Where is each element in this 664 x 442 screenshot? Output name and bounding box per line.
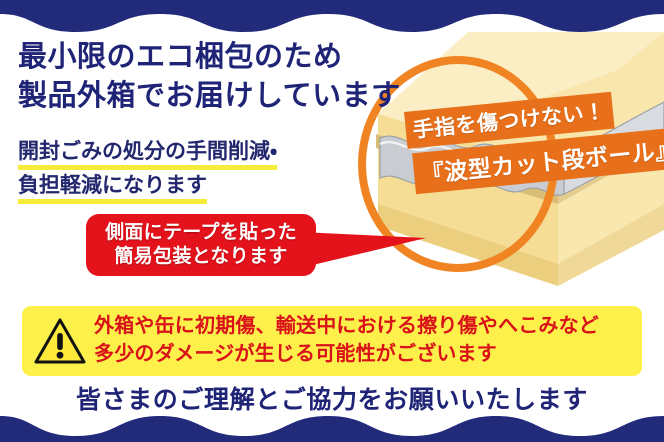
subhead-line-2: 負担軽減になります (18, 170, 207, 204)
warning-line-1: 外箱や缶に初期傷、輸送中における擦り傷やへこみなど (94, 313, 630, 341)
callout-pointer-arrow (300, 222, 426, 278)
red-callout-bubble: 側面にテープを貼った 簡易包装となります (86, 214, 316, 276)
warning-triangle-icon (34, 317, 86, 365)
closing-message: 皆さまのご理解とご協力をお願いいたします (0, 380, 664, 416)
red-callout-line-2: 簡易包装となります (114, 245, 287, 269)
warning-text-block: 外箱や缶に初期傷、輸送中における擦り傷やへこみなど 多少のダメージが生じる可能性… (94, 313, 630, 368)
red-callout-line-1: 側面にテープを貼った (105, 221, 297, 245)
main-headline: 最小限のエコ梱包のため 製品外箱でお届けしています (18, 38, 401, 115)
packaging-notice-banner: 最小限のエコ梱包のため 製品外箱でお届けしています 開封ごみの処分の手間削減・ … (0, 0, 664, 442)
headline-line-2: 製品外箱でお届けしています (18, 77, 401, 116)
sub-headline: 開封ごみの処分の手間削減・ 負担軽減になります (18, 136, 277, 204)
warning-panel: 外箱や缶に初期傷、輸送中における擦り傷やへこみなど 多少のダメージが生じる可能性… (22, 306, 642, 376)
warning-line-2: 多少のダメージが生じる可能性がございます (94, 341, 630, 369)
subhead-line-1: 開封ごみの処分の手間削減・ (18, 136, 277, 170)
headline-line-1: 最小限のエコ梱包のため (18, 38, 401, 77)
